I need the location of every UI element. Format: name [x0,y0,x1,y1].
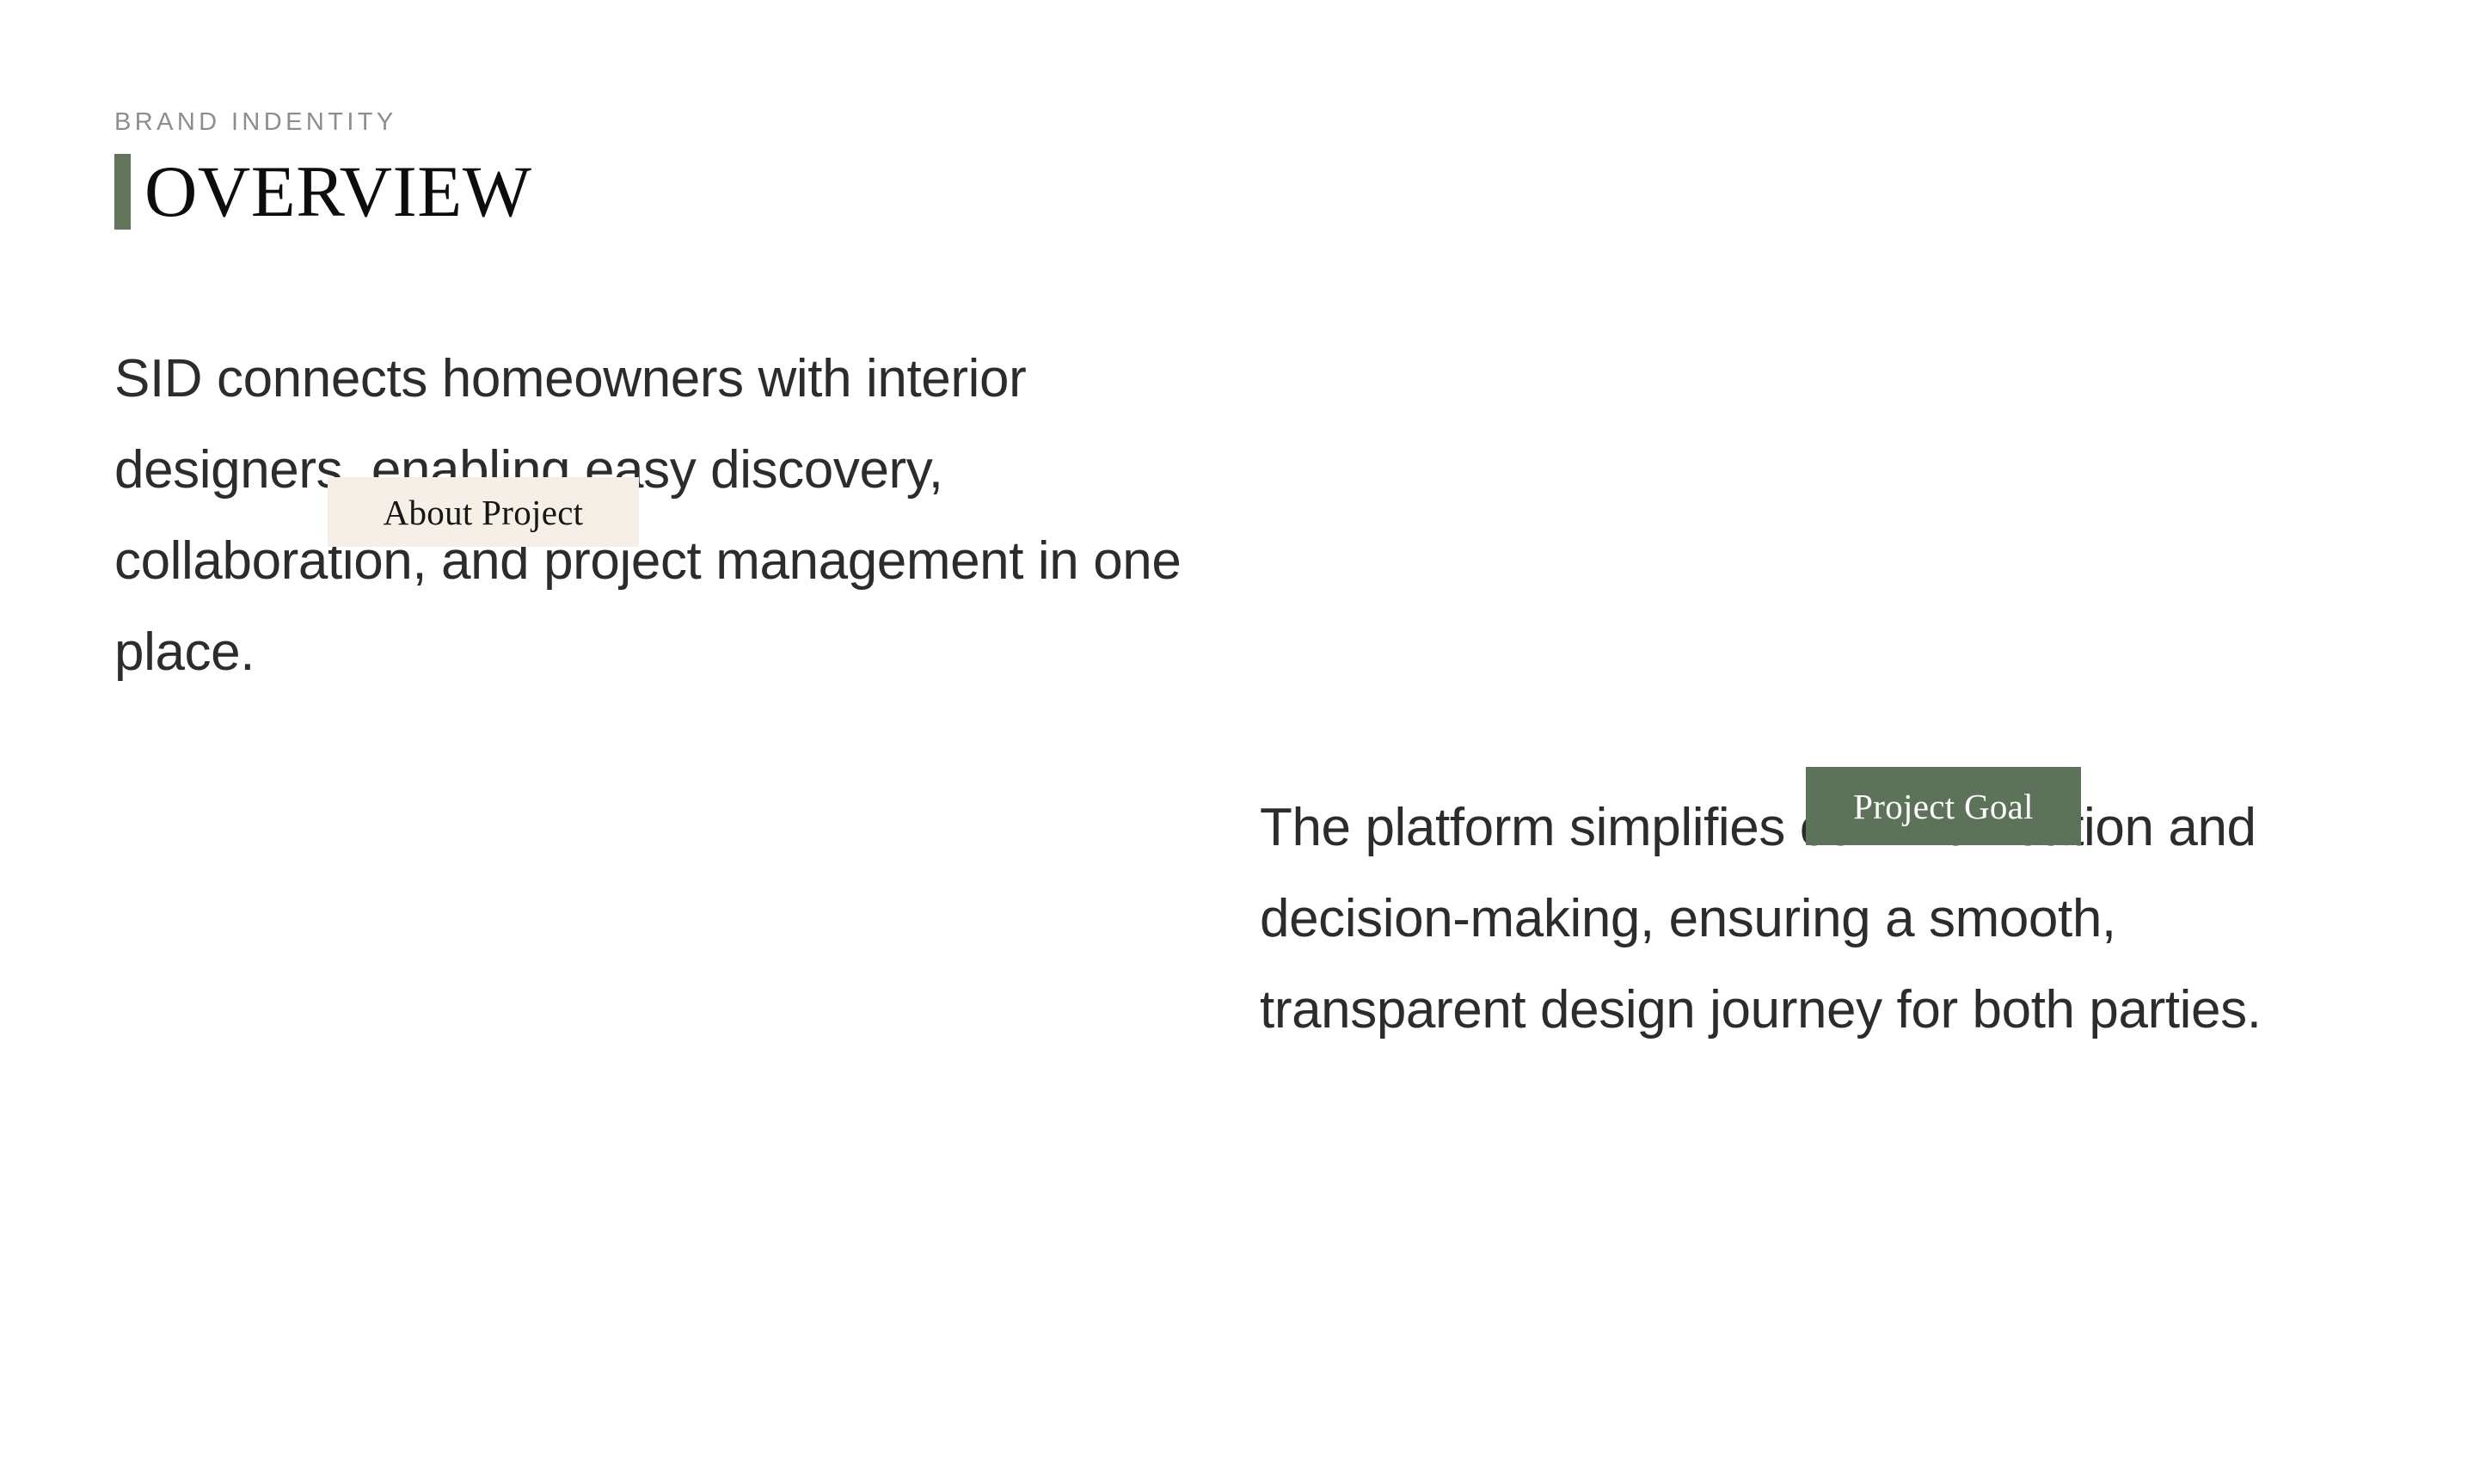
about-project-badge: About Project [328,477,639,547]
accent-bar [114,154,131,230]
slide-canvas: BRAND INDENTITY OVERVIEW SID connects ho… [0,0,2480,1484]
eyebrow-label: BRAND INDENTITY [114,110,531,135]
about-project-badge-label: About Project [384,492,584,533]
header-block: BRAND INDENTITY OVERVIEW [114,110,531,230]
project-goal-badge-label: Project Goal [1853,786,2034,827]
page-title-row: OVERVIEW [114,154,531,230]
project-goal-badge: Project Goal [1806,767,2081,845]
about-project-paragraph: SID connects homeowners with interior de… [114,334,1189,698]
page-title: OVERVIEW [131,154,531,230]
